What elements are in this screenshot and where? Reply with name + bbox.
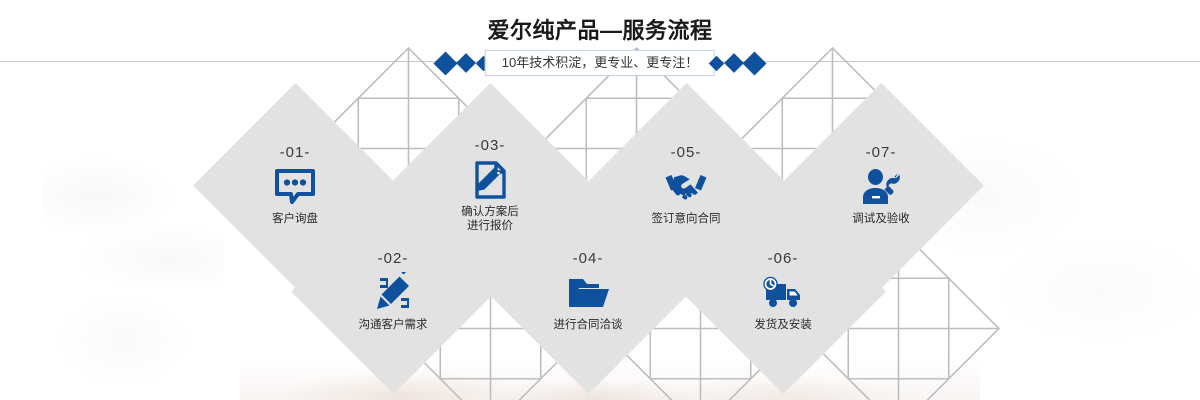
step-label: 进行合同洽谈 — [554, 318, 623, 332]
diamond-large-icon — [433, 51, 457, 75]
step-label: 沟通客户需求 — [359, 318, 428, 332]
step-label: 确认方案后 进行报价 — [461, 205, 519, 233]
diamond-small-icon — [709, 55, 725, 71]
step-number: -03- — [475, 138, 506, 153]
step-label: 发货及安装 — [754, 318, 812, 332]
header-diamonds-left — [437, 50, 489, 76]
step-number: -01- — [280, 145, 311, 160]
pen-edit-icon — [370, 273, 416, 313]
header-diamonds-right — [711, 50, 763, 76]
step-number: -06- — [768, 251, 799, 266]
step-number: -04- — [573, 251, 604, 266]
document-pen-icon — [467, 160, 513, 200]
chat-bubble-icon — [272, 167, 318, 207]
service-process-banner: 爱尔纯产品—服务流程 10年技术积淀，更专业、更专注！ -01-客户询盘-02-… — [0, 0, 1200, 400]
step-number: -05- — [671, 145, 702, 160]
step-number: -07- — [866, 145, 897, 160]
step-content: -07-调试及验收 — [809, 113, 954, 258]
step-label: 调试及验收 — [852, 212, 910, 226]
subtitle-badge: 10年技术积淀，更专业、更专注！ — [485, 50, 715, 76]
diamond-large-icon — [742, 51, 766, 75]
step-label: 客户询盘 — [272, 212, 318, 226]
diamond-medium-icon — [456, 53, 476, 73]
technician-icon — [858, 167, 904, 207]
open-folder-icon — [565, 273, 611, 313]
process-step-07[interactable]: -07-调试及验收 — [809, 113, 954, 258]
handshake-icon — [663, 167, 709, 207]
diamond-medium-icon — [724, 53, 744, 73]
delivery-truck-icon — [760, 273, 806, 313]
step-number: -02- — [378, 251, 409, 266]
